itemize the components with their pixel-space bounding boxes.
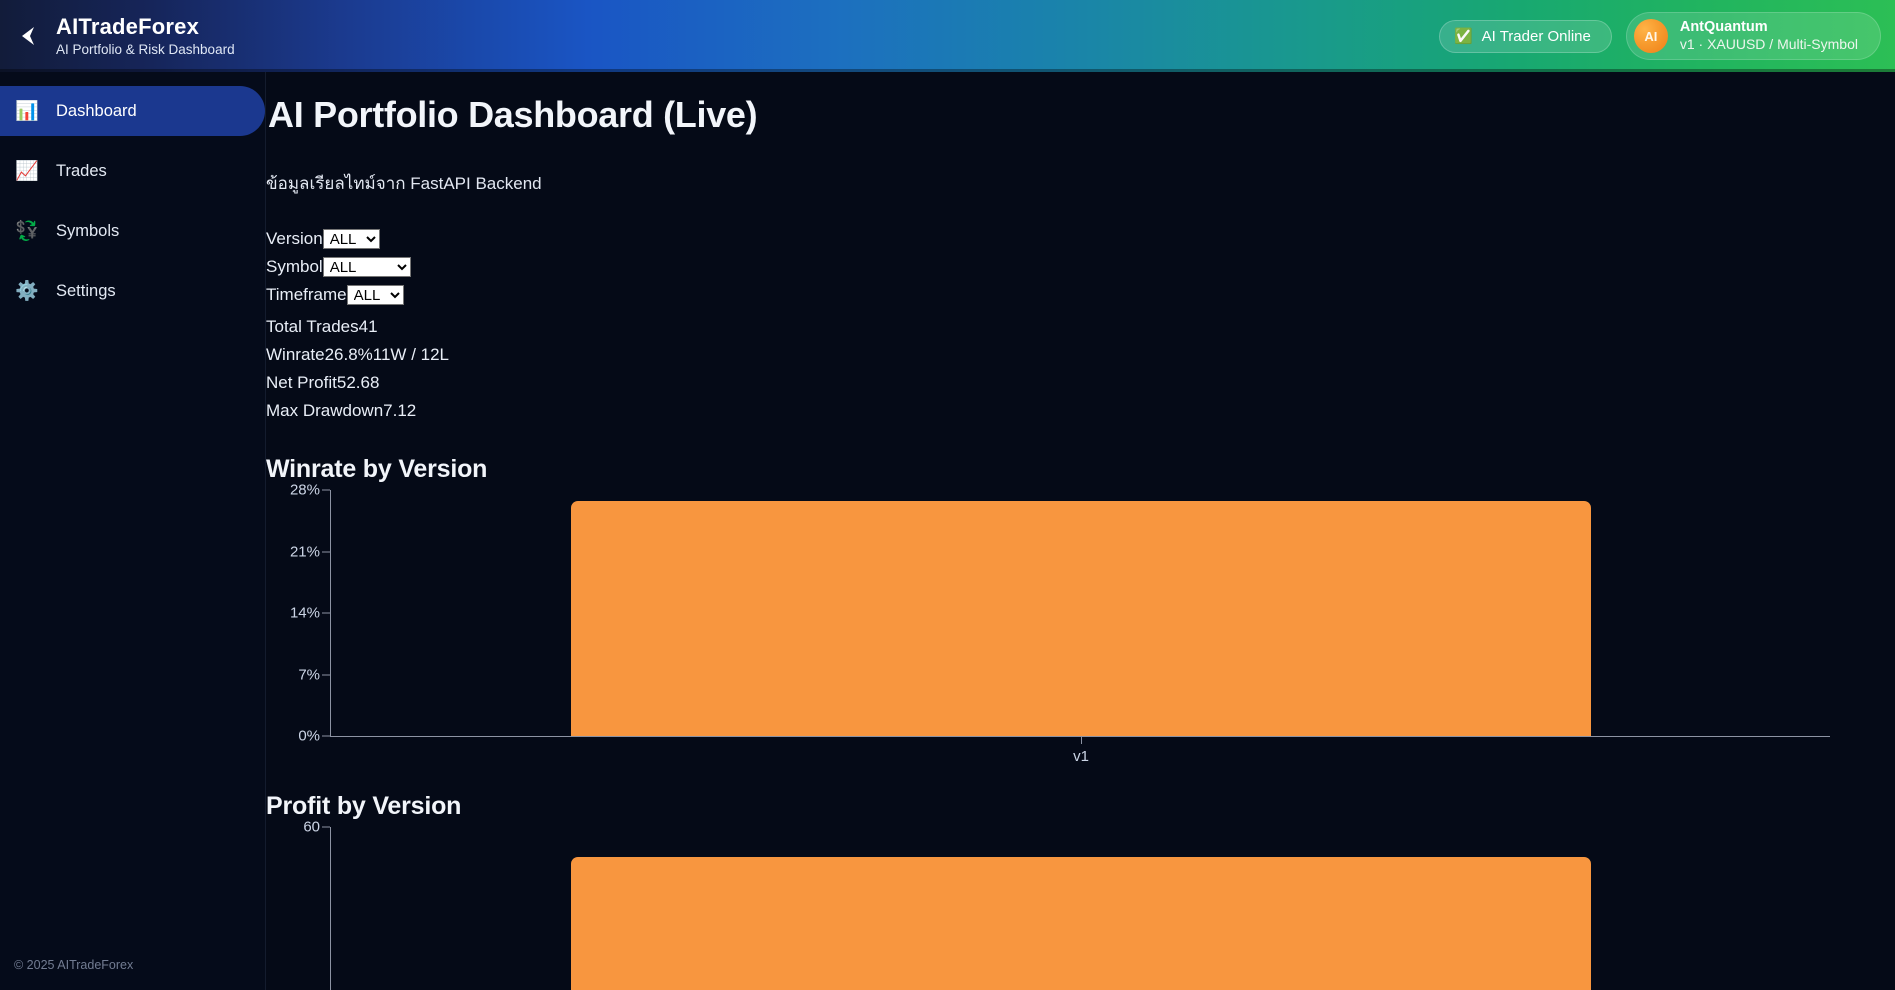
filter-symbol: Symbol ALL <box>266 253 1895 281</box>
stat-value: 41 <box>359 317 378 336</box>
y-axis-tick-mark <box>322 490 330 491</box>
y-axis-tick-label: 21% <box>290 543 320 560</box>
user-name: AntQuantum <box>1680 19 1858 36</box>
stat-winrate: Winrate26.8%11W / 12L <box>266 341 1895 369</box>
y-axis-tick-mark <box>322 551 330 552</box>
stat-extra: 11W / 12L <box>373 345 449 364</box>
header-right: ✅ AI Trader Online AI AntQuantum v1 · XA… <box>1439 12 1895 60</box>
line-chart-icon: 📈 <box>14 162 40 181</box>
version-select[interactable]: ALL <box>323 229 380 249</box>
sidebar-item-trades[interactable]: 📈 Trades <box>0 146 265 196</box>
y-axis-tick-mark <box>322 736 330 737</box>
filter-symbol-label: Symbol <box>266 253 323 281</box>
sidebar-item-label: Symbols <box>56 222 119 241</box>
back-button[interactable] <box>0 0 56 72</box>
sidebar-item-settings[interactable]: ⚙️ Settings <box>0 266 265 316</box>
brand-subtitle: AI Portfolio & Risk Dashboard <box>56 42 235 58</box>
sidebar-item-label: Settings <box>56 282 116 301</box>
bars-layer <box>331 827 1831 990</box>
y-axis-tick-label: 28% <box>290 482 320 499</box>
dashboard-page: AITradeForex AI Portfolio & Risk Dashboa… <box>0 0 1895 990</box>
x-axis-tick-mark <box>1081 737 1082 744</box>
sidebar-footer-copyright: © 2025 AITradeForex <box>14 958 133 972</box>
chart-plot-area: 0%7%14%21%28%v1 <box>266 490 1895 762</box>
stat-label: Winrate <box>266 345 325 364</box>
brand-title: AITradeForex <box>56 14 235 39</box>
y-axis-tick-label: 14% <box>290 605 320 622</box>
y-axis-tick-mark <box>322 613 330 614</box>
bar-chart-icon: 📊 <box>14 102 40 121</box>
sidebar-item-label: Dashboard <box>56 102 137 121</box>
stat-value: 7.12 <box>383 401 416 420</box>
sidebar-nav: 📊 Dashboard 📈 Trades 💱 Symbols ⚙️ Settin… <box>0 72 265 316</box>
user-meta: AntQuantum v1 · XAUUSD / Multi-Symbol <box>1680 19 1858 53</box>
filter-timeframe: Timeframe ALL <box>266 281 1895 309</box>
user-subtitle: v1 · XAUUSD / Multi-Symbol <box>1680 36 1858 53</box>
stat-value: 26.8% <box>325 345 373 364</box>
stat-max-drawdown: Max Drawdown7.12 <box>266 397 1895 425</box>
main-content: AI Portfolio Dashboard (Live) ข้อมูลเรีย… <box>266 72 1895 990</box>
bar[interactable] <box>571 857 1591 990</box>
page-subtitle: ข้อมูลเรียลไทม์จาก FastAPI Backend <box>266 170 1895 197</box>
sidebar: 📊 Dashboard 📈 Trades 💱 Symbols ⚙️ Settin… <box>0 72 266 990</box>
bar[interactable] <box>571 501 1591 736</box>
sidebar-item-symbols[interactable]: 💱 Symbols <box>0 206 265 256</box>
y-axis: 60 <box>266 827 330 990</box>
stat-value: 52.68 <box>337 373 380 392</box>
stat-total-trades: Total Trades41 <box>266 313 1895 341</box>
avatar: AI <box>1634 19 1668 53</box>
stat-label: Max Drawdown <box>266 401 383 420</box>
chart-title: Winrate by Version <box>266 455 1895 484</box>
stats-list: Total Trades41 Winrate26.8%11W / 12L Net… <box>266 313 1895 425</box>
filter-timeframe-label: Timeframe <box>266 281 347 309</box>
app-header: AITradeForex AI Portfolio & Risk Dashboa… <box>0 0 1895 72</box>
stat-label: Total Trades <box>266 317 359 336</box>
chart-winrate-by-version: Winrate by Version 0%7%14%21%28%v1 <box>266 455 1895 762</box>
y-axis: 0%7%14%21%28% <box>266 490 330 736</box>
y-axis-tick-label: 60 <box>303 819 320 836</box>
filter-version: Version ALL <box>266 225 1895 253</box>
x-axis-line <box>330 736 1830 737</box>
sidebar-item-label: Trades <box>56 162 107 181</box>
filter-version-label: Version <box>266 225 323 253</box>
page-title: AI Portfolio Dashboard (Live) <box>268 94 1895 136</box>
stat-label: Net Profit <box>266 373 337 392</box>
currency-exchange-icon: 💱 <box>14 222 40 241</box>
ai-trader-status-label: AI Trader Online <box>1482 28 1591 45</box>
check-icon: ✅ <box>1454 29 1473 44</box>
y-axis-tick-mark <box>322 674 330 675</box>
timeframe-select[interactable]: ALL <box>347 285 404 305</box>
brand: AITradeForex AI Portfolio & Risk Dashboa… <box>56 14 235 57</box>
chart-profit-by-version: Profit by Version 60v1 <box>266 792 1895 990</box>
symbol-select[interactable]: ALL <box>323 257 411 277</box>
bars-layer <box>331 490 1831 736</box>
gear-icon: ⚙️ <box>14 282 40 301</box>
ai-trader-status-badge[interactable]: ✅ AI Trader Online <box>1439 20 1612 53</box>
filter-bar: Version ALL Symbol ALL Timeframe ALL <box>266 225 1895 309</box>
chart-title: Profit by Version <box>266 792 1895 821</box>
chevron-left-icon <box>17 24 39 48</box>
sidebar-item-dashboard[interactable]: 📊 Dashboard <box>0 86 265 136</box>
stat-net-profit: Net Profit52.68 <box>266 369 1895 397</box>
y-axis-tick-label: 7% <box>298 666 320 683</box>
user-account-badge[interactable]: AI AntQuantum v1 · XAUUSD / Multi-Symbol <box>1626 12 1881 60</box>
y-axis-tick-mark <box>322 827 330 828</box>
x-axis-tick-label: v1 <box>1073 748 1089 765</box>
y-axis-tick-label: 0% <box>298 728 320 745</box>
chart-plot-area: 60v1 <box>266 827 1895 990</box>
